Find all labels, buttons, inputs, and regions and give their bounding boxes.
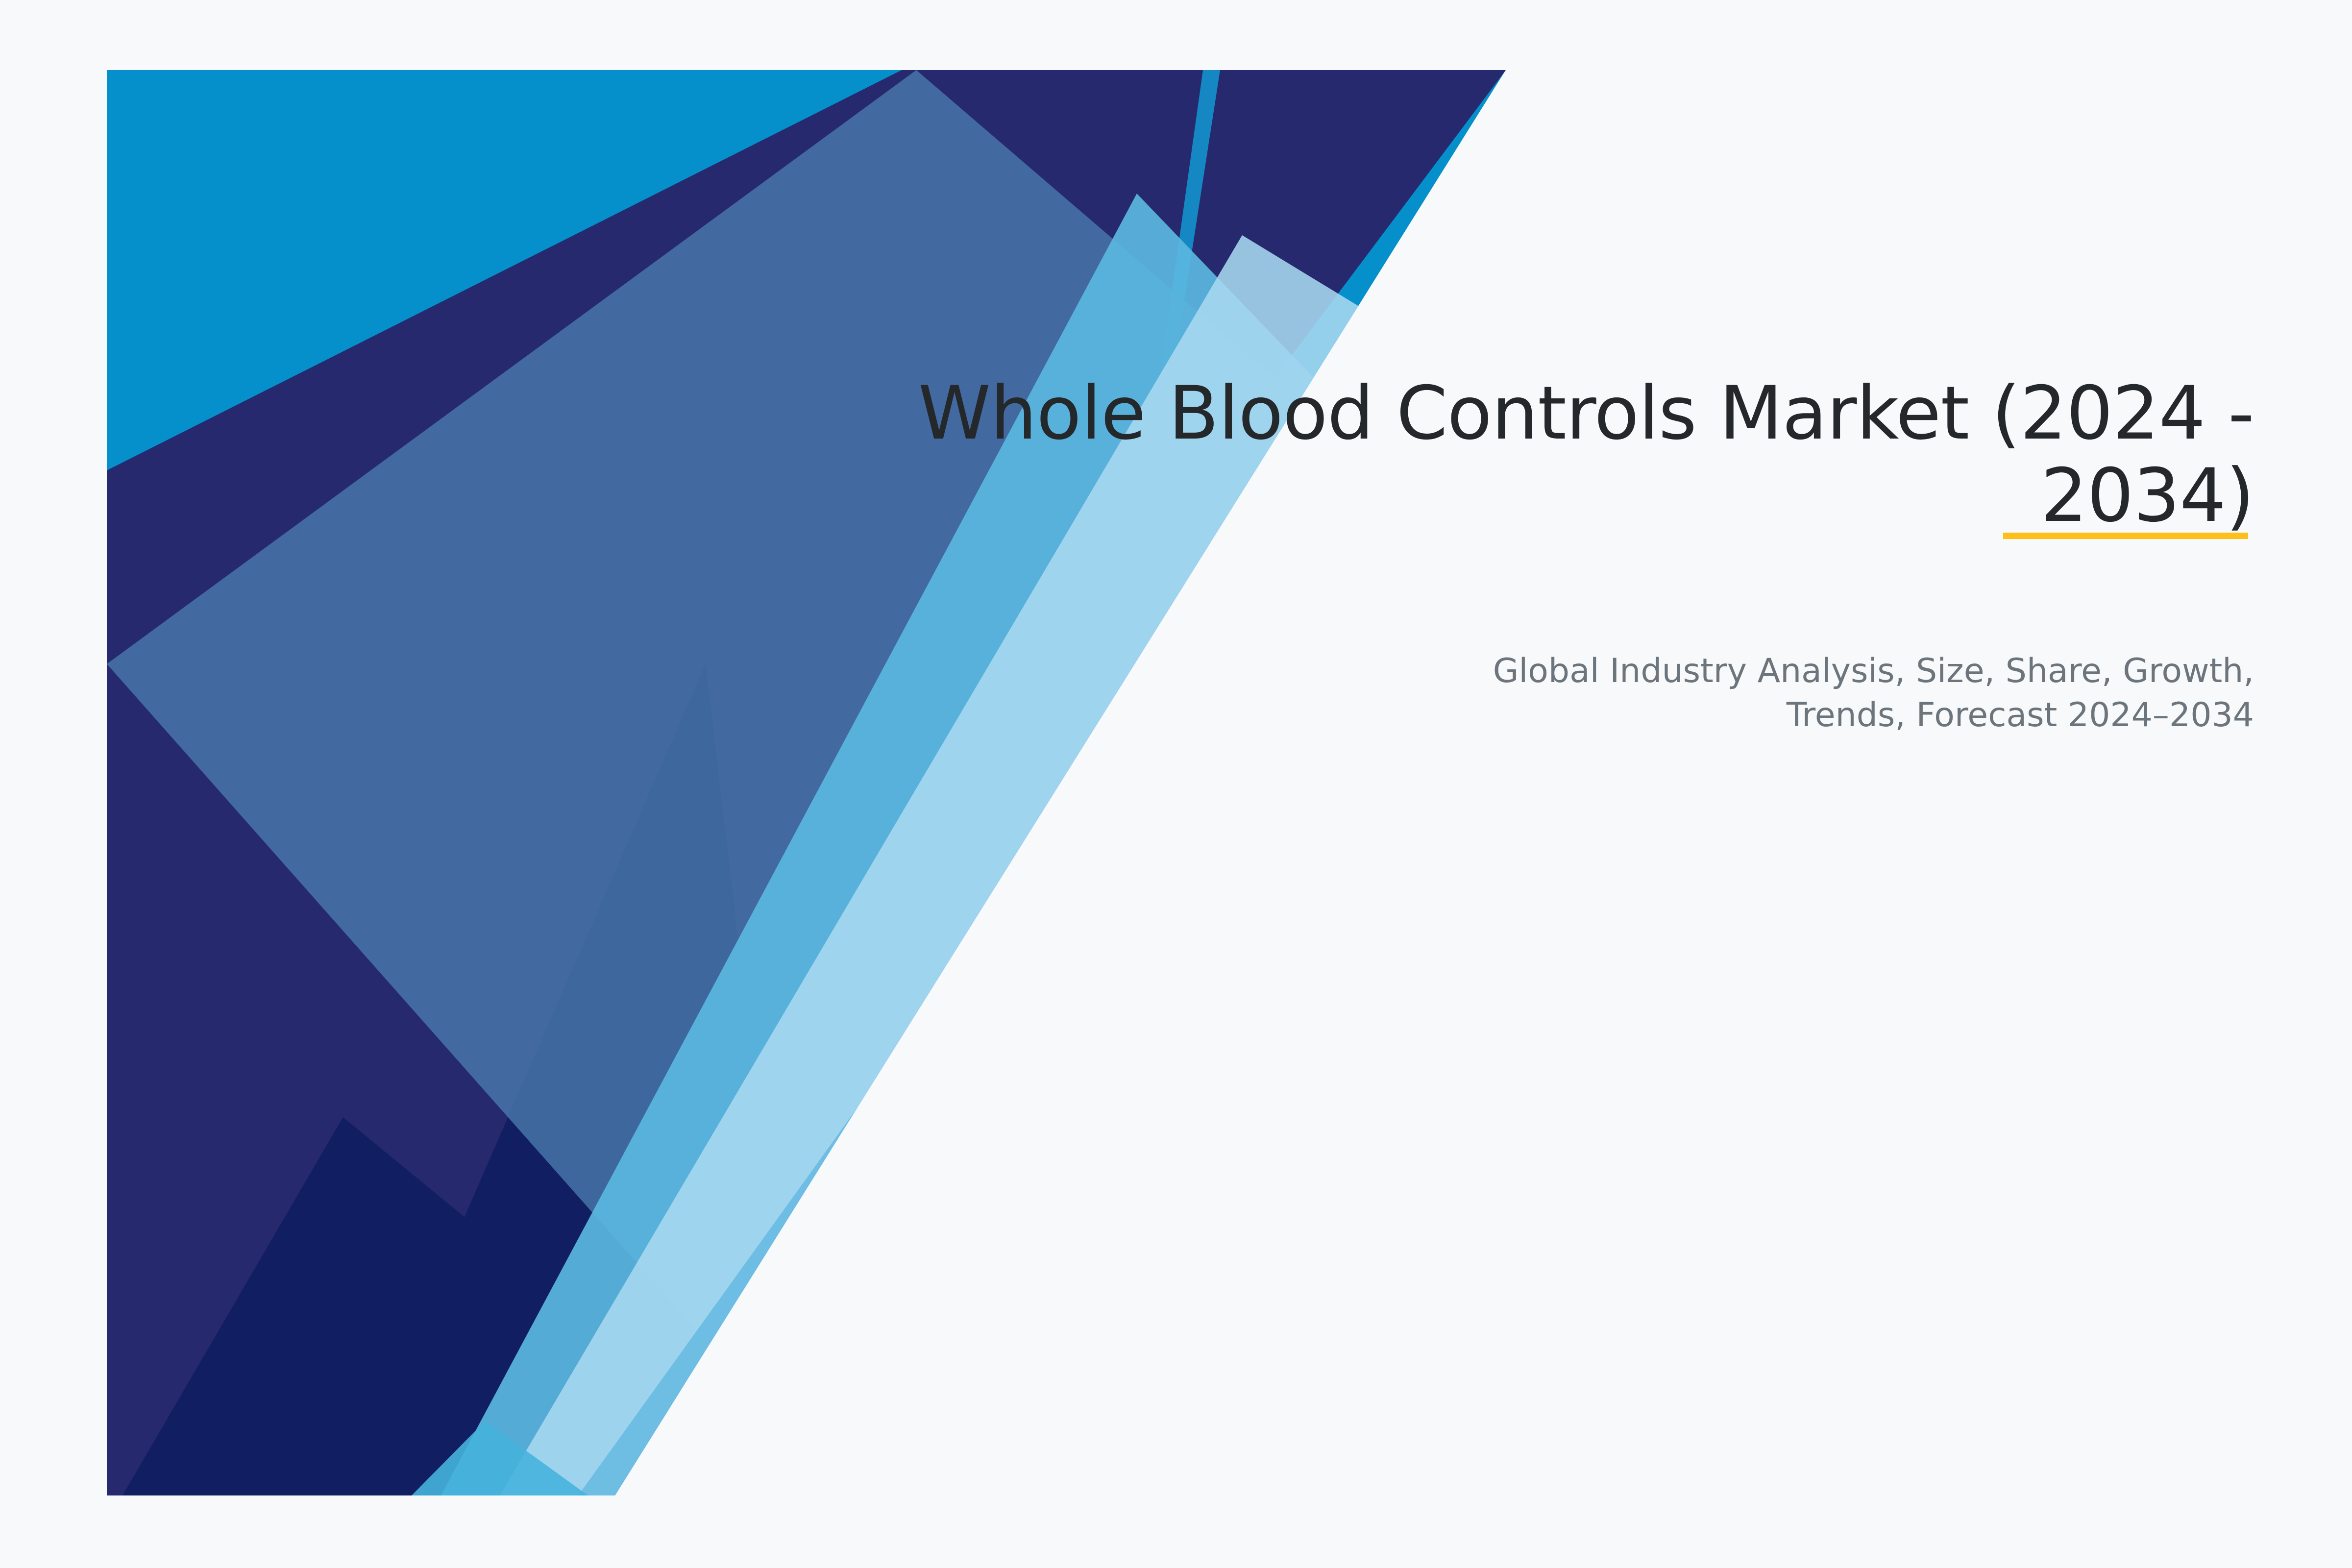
- abstract-geometric-graphic: [0, 0, 2352, 1568]
- page-title: Whole Blood Controls Market (2024 - 2034…: [833, 372, 2254, 537]
- page-subtitle: Global Industry Analysis, Size, Share, G…: [1421, 649, 2254, 737]
- slide-canvas: Whole Blood Controls Market (2024 - 2034…: [0, 0, 2352, 1568]
- title-accent-underline: [2003, 533, 2248, 539]
- title-block: Whole Blood Controls Market (2024 - 2034…: [833, 372, 2254, 537]
